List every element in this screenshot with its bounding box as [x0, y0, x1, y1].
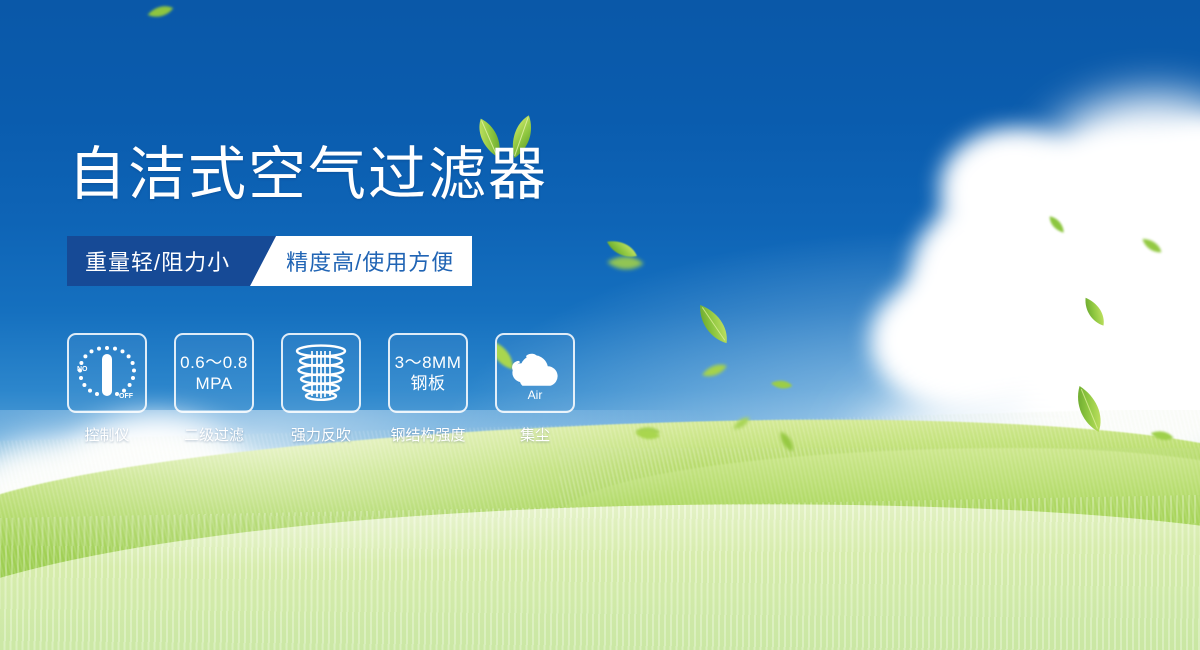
feature-icon-box: Air [495, 333, 575, 413]
steel-plate-text-icon: 3～8MM 钢板 [395, 352, 462, 394]
subtitle-left: 重量轻/阻力小 [67, 236, 250, 286]
grass-field [0, 410, 1200, 650]
feature-icon-box [281, 333, 361, 413]
feature-label: 强力反吹 [291, 424, 351, 445]
feature-item-controller[interactable]: NO OFF 控制仪 [67, 333, 147, 445]
feature-item-secondary-filter[interactable]: 0.6～0.8 MPA 二级过滤 [174, 333, 254, 445]
feature-item-dust-collection[interactable]: Air 集尘 [495, 333, 575, 445]
feature-icon-box: 0.6～0.8 MPA [174, 333, 254, 413]
feature-label: 控制仪 [84, 424, 129, 445]
steel-line-1: 3～8MM [395, 352, 462, 373]
cloud-air-label: Air [528, 388, 543, 402]
grass-highlight [0, 410, 1200, 650]
subtitle-bar: 重量轻/阻力小 精度高/使用方便 [67, 236, 472, 286]
product-banner: 自洁式空气过滤器 重量轻/阻力小 精度高/使用方便 [0, 0, 1200, 650]
page-title: 自洁式空气过滤器 [68, 140, 548, 210]
gauge-right-mark: OFF [119, 393, 134, 400]
gauge-dial-icon: NO OFF [72, 340, 142, 406]
cloud-air-icon: Air [502, 342, 568, 404]
feature-label: 钢结构强度 [390, 424, 465, 445]
feature-label: 二级过滤 [184, 424, 244, 445]
feature-label: 集尘 [520, 424, 550, 445]
feature-icon-box: 3～8MM 钢板 [388, 333, 468, 413]
subtitle-right: 精度高/使用方便 [276, 236, 472, 286]
subtitle-divider [250, 236, 276, 286]
steel-line-2: 钢板 [395, 373, 462, 394]
feature-icon-box: NO OFF [67, 333, 147, 413]
feature-list: NO OFF 控制仪 0.6～0.8 MPA 二级过滤 [67, 333, 575, 445]
pressure-line-2: MPA [180, 373, 248, 394]
pressure-text-icon: 0.6～0.8 MPA [180, 352, 248, 394]
leaf-shape-icon [602, 249, 648, 275]
filter-cartridge-icon [293, 343, 349, 403]
pressure-line-1: 0.6～0.8 [180, 352, 248, 373]
leaf-floating-2 [602, 249, 648, 275]
feature-item-steel-strength[interactable]: 3～8MM 钢板 钢结构强度 [388, 333, 468, 445]
gauge-left-mark: NO [77, 366, 88, 373]
feature-item-blowback[interactable]: 强力反吹 [281, 333, 361, 445]
